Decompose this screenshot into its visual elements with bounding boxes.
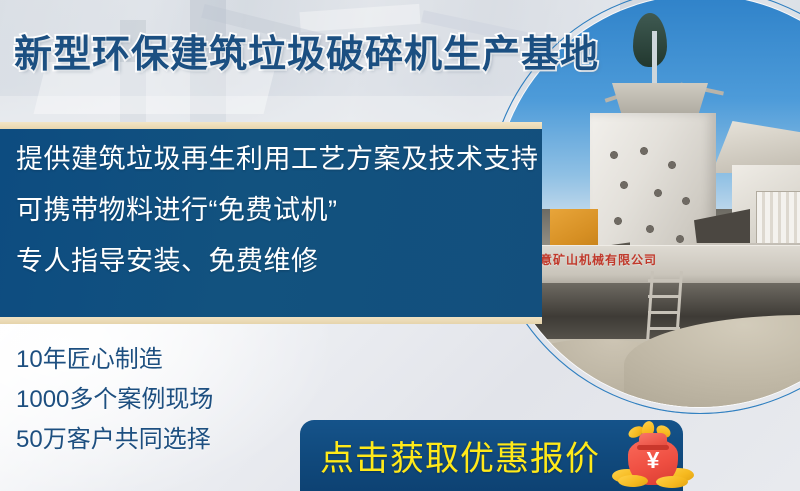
panel-bottom-divider	[0, 317, 542, 324]
stat-item: 10年匠心制造	[16, 348, 213, 372]
feature-item: 提供建筑垃圾再生利用工艺方案及技术支持	[16, 146, 536, 173]
coin-icon	[618, 475, 648, 487]
page-title: 新型环保建筑垃圾破碎机生产基地	[14, 36, 599, 74]
promo-banner: 州中意矿山机械有限公司 新型环保建筑垃圾破碎机生产基地 提供建筑垃圾再生利用工艺…	[0, 0, 800, 491]
stats-list: 10年匠心制造 1000多个案例现场 50万客户共同选择	[16, 348, 213, 468]
panel-top-divider	[0, 122, 542, 129]
cta-button-label: 点击获取优惠报价	[320, 431, 600, 480]
money-bag-icon: ¥	[612, 425, 698, 487]
yen-symbol: ¥	[628, 449, 678, 472]
feature-item: 专人指导安装、免费维修	[16, 248, 536, 275]
bg-shape	[299, 4, 420, 32]
coin-icon	[656, 476, 688, 488]
stat-item: 50万客户共同选择	[16, 428, 213, 452]
cta-button[interactable]: 点击获取优惠报价 ¥	[300, 420, 683, 491]
stat-item: 1000多个案例现场	[16, 388, 213, 412]
feature-list: 提供建筑垃圾再生利用工艺方案及技术支持 可携带物料进行“免费试机” 专人指导安装…	[16, 146, 536, 299]
feature-item: 可携带物料进行“免费试机”	[16, 197, 536, 224]
